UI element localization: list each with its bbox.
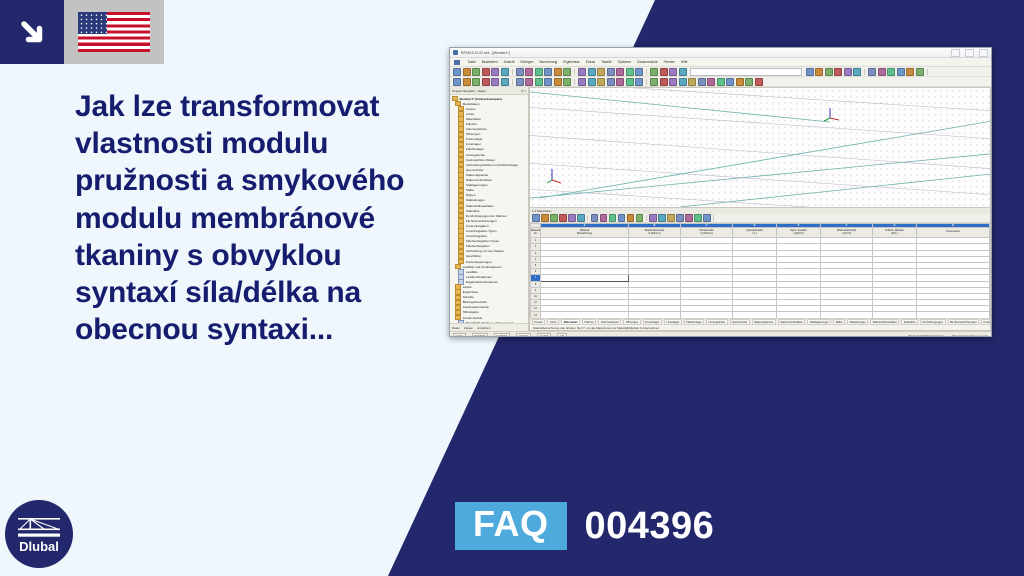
navigator-item-label: Linien bbox=[466, 112, 474, 116]
toolbar-button[interactable] bbox=[463, 78, 471, 86]
navigator-item-label: Knoten bbox=[466, 107, 476, 111]
menu-item[interactable]: Berechnung bbox=[539, 60, 557, 64]
toolbar-button[interactable] bbox=[532, 214, 540, 222]
status-chip[interactable]: FANG bbox=[453, 333, 466, 338]
toolbar-button[interactable] bbox=[626, 78, 634, 86]
toolbar-button[interactable] bbox=[887, 68, 895, 76]
navigator-item-label: Zusatzmodule bbox=[463, 316, 482, 320]
navigator-header: Projekt-Navigator - Daten ⚲ × bbox=[450, 87, 528, 95]
navigator-item-label: Querschnitte bbox=[466, 168, 484, 172]
toolbar-button[interactable] bbox=[591, 214, 599, 222]
status-chip[interactable]: RASTER bbox=[472, 333, 488, 338]
navigator-item-label: Flächenfreigaben-Typen bbox=[466, 239, 499, 243]
navigator-item-label: Flächenlager bbox=[466, 147, 484, 151]
project-navigator: Projekt-Navigator - Daten ⚲ × Member1* (… bbox=[450, 87, 529, 331]
table-hint: Materialbezeichnung oder drücken Sie F7,… bbox=[530, 325, 990, 330]
dlubal-frame-icon bbox=[17, 516, 61, 538]
toolbar-button[interactable] bbox=[544, 78, 552, 86]
toolbar-button[interactable] bbox=[627, 214, 635, 222]
navigator-item-label: Veränderliche Dicken bbox=[466, 158, 495, 162]
navigator-item-label: Ergebnisse bbox=[463, 290, 478, 294]
window-title: RFEM 5.22.02 x64 - [Member1*] bbox=[461, 51, 510, 55]
toolbar-button[interactable] bbox=[679, 68, 687, 76]
toolbar-button[interactable] bbox=[607, 68, 615, 76]
toolbar-button[interactable] bbox=[463, 68, 471, 76]
toolbar-button[interactable] bbox=[736, 78, 744, 86]
toolbar-button[interactable] bbox=[717, 78, 725, 86]
toolbar-separator bbox=[574, 79, 575, 85]
toolbar-button[interactable] bbox=[491, 78, 499, 86]
faq-number: 004396 bbox=[585, 507, 715, 545]
navigator-tab-zeigen[interactable]: Zeigen bbox=[464, 326, 473, 330]
navigator-item-label: Ergebniskombinationen bbox=[466, 280, 498, 284]
toolbar-button[interactable] bbox=[878, 68, 886, 76]
toolbar-button[interactable] bbox=[679, 78, 687, 86]
toolbar-button[interactable] bbox=[472, 78, 480, 86]
toolbar-separator bbox=[646, 69, 647, 75]
navigator-tab-daten[interactable]: Daten bbox=[452, 326, 460, 330]
toolbar-button[interactable] bbox=[688, 78, 696, 86]
toolbar-button[interactable] bbox=[669, 68, 677, 76]
navigator-item-label: Stäbe bbox=[466, 188, 474, 192]
toolbar-combobox[interactable] bbox=[690, 68, 802, 76]
status-bar: FANGRASTERKARTESOFANGOLINIEGIF3D-Modell … bbox=[450, 331, 991, 337]
navigator-item-label: Stabendgelenke bbox=[466, 173, 488, 177]
menu-item[interactable]: Bearbeiten bbox=[482, 60, 498, 64]
toolbar-separator bbox=[574, 69, 575, 75]
toolbar-button[interactable] bbox=[698, 78, 706, 86]
toolbar-button[interactable] bbox=[516, 68, 524, 76]
maximize-button[interactable] bbox=[965, 49, 974, 57]
navigator-pin-icon[interactable]: ⚲ × bbox=[521, 89, 526, 93]
toolbar-button[interactable] bbox=[694, 214, 702, 222]
toolbar-button[interactable] bbox=[568, 214, 576, 222]
toolbar-separator bbox=[646, 215, 647, 221]
toolbar-button[interactable] bbox=[650, 78, 658, 86]
menu-item[interactable]: Ansicht bbox=[504, 60, 515, 64]
toolbar-button[interactable] bbox=[453, 68, 461, 76]
table-toolbar[interactable] bbox=[530, 214, 990, 223]
language-bar bbox=[0, 0, 164, 64]
toolbar-button[interactable] bbox=[685, 214, 693, 222]
navigator-item-label: Linienlager bbox=[466, 142, 481, 146]
menu-item[interactable]: Hilfe bbox=[681, 60, 688, 64]
navigator-item-label: Member1* (Global Examples) bbox=[460, 97, 503, 101]
toolbar-button[interactable] bbox=[600, 214, 608, 222]
toolbar-button[interactable] bbox=[597, 68, 605, 76]
app-icon bbox=[453, 50, 458, 55]
toolbar-button[interactable] bbox=[825, 68, 833, 76]
column-header[interactable]: Wärmedehnzahlα [1/°C] bbox=[821, 228, 873, 238]
toolbar-button[interactable] bbox=[616, 78, 624, 86]
faq-tag: FAQ bbox=[455, 502, 567, 550]
navigator-item-label: Flächen bbox=[466, 122, 477, 126]
toolbar-button[interactable] bbox=[650, 68, 658, 76]
menu-item[interactable]: Einfügen bbox=[520, 60, 533, 64]
toolbar-button[interactable] bbox=[703, 214, 711, 222]
toolbar-button[interactable] bbox=[745, 78, 753, 86]
toolbar-button[interactable] bbox=[588, 68, 596, 76]
column-header[interactable]: MaterialBezeichnung bbox=[541, 228, 629, 238]
navigator-item-label: Öffnungen bbox=[466, 132, 480, 136]
menu-item[interactable]: Ergebnisse bbox=[563, 60, 580, 64]
toolbar-separator bbox=[927, 69, 928, 75]
navigator-item-label: Stablagerungen bbox=[466, 183, 488, 187]
model-wireframe bbox=[530, 88, 990, 207]
status-text: ISO | Drahtmodell | Isometrie bbox=[952, 334, 988, 338]
toolbar-button[interactable] bbox=[544, 68, 552, 76]
column-header[interactable]: Teilsich.-BeiwertγM [-] bbox=[873, 228, 917, 238]
toolbar-button[interactable] bbox=[815, 68, 823, 76]
rfem-application-window: RFEM 5.22.02 x64 - [Member1*] Datei Bear… bbox=[449, 47, 992, 337]
status-chip[interactable]: OFANG bbox=[516, 333, 531, 338]
navigator-item-label: Ausdruckprotokolle bbox=[463, 305, 489, 309]
toolbar-button[interactable] bbox=[853, 68, 861, 76]
toolbar-button[interactable] bbox=[667, 214, 675, 222]
window-titlebar: RFEM 5.22.02 x64 - [Member1*] bbox=[450, 48, 991, 58]
status-chip[interactable]: GIF bbox=[557, 333, 567, 338]
toolbar-button[interactable] bbox=[844, 68, 852, 76]
row-header-cell: MaterialNr. bbox=[531, 228, 541, 238]
toolbar-button[interactable] bbox=[563, 78, 571, 86]
navigator-item-label: Stabnichtlinearitäten bbox=[466, 204, 494, 208]
materials-table[interactable]: ABCDEFGHMaterialNr.MaterialBezeichnungEl… bbox=[530, 223, 990, 318]
navigator-item-label: Knotenlager bbox=[466, 137, 483, 141]
toolbar-separator bbox=[646, 79, 647, 85]
us-flag-icon bbox=[64, 0, 164, 64]
toolbar-button[interactable] bbox=[635, 68, 643, 76]
navigator-item-label: Lastkombinationen bbox=[466, 275, 492, 279]
toolbar-button[interactable] bbox=[525, 68, 533, 76]
navigator-item-label: Verbindung mit zwei Stäben bbox=[466, 249, 504, 253]
menu-item[interactable]: Tabelle bbox=[601, 60, 611, 64]
toolbar-button[interactable] bbox=[707, 78, 715, 86]
minimize-button[interactable] bbox=[951, 49, 960, 57]
navigator-item-label: Flächenfreigaben bbox=[466, 244, 490, 248]
navigator-item-label: Lastfälle bbox=[466, 270, 478, 274]
toolbar-button[interactable] bbox=[525, 78, 533, 86]
toolbar-button[interactable] bbox=[806, 68, 814, 76]
main-toolbar[interactable] bbox=[450, 67, 991, 77]
menu-item[interactable]: Fenster bbox=[664, 60, 675, 64]
toolbar-separator bbox=[713, 215, 714, 221]
toolbar-button[interactable] bbox=[660, 68, 668, 76]
toolbar-button[interactable] bbox=[897, 68, 905, 76]
menu-item[interactable]: Optionen bbox=[618, 60, 631, 64]
toolbar-button[interactable] bbox=[755, 78, 763, 86]
arrow-down-right-icon bbox=[0, 0, 64, 64]
toolbar-button[interactable] bbox=[660, 78, 668, 86]
toolbar-button[interactable] bbox=[482, 78, 490, 86]
toolbar-separator bbox=[512, 69, 513, 75]
toolbar-button[interactable] bbox=[588, 78, 596, 86]
navigator-item-label: Durchdringungen der Flächen bbox=[466, 214, 507, 218]
menu-item[interactable]: Extras bbox=[586, 60, 595, 64]
navigator-item-label: Linienfreigaben-Typen bbox=[466, 229, 497, 233]
toolbar-button[interactable] bbox=[578, 68, 586, 76]
navigator-tree[interactable]: Member1* (Global Examples)ModelldatenKno… bbox=[450, 95, 528, 323]
toolbar-button[interactable] bbox=[491, 68, 499, 76]
toolbar-button[interactable] bbox=[501, 78, 509, 86]
navigator-item-label: Knotenfreigaben bbox=[466, 224, 489, 228]
toolbar-button[interactable] bbox=[577, 214, 585, 222]
navigator-item-label: FE-Netzverdichtungen bbox=[466, 219, 497, 223]
toolbar-button[interactable] bbox=[541, 214, 549, 222]
faq-strip: FAQ 004396 bbox=[455, 502, 714, 550]
toolbar-button[interactable] bbox=[726, 78, 734, 86]
document-icon bbox=[454, 60, 460, 65]
window-controls[interactable] bbox=[951, 49, 988, 57]
toolbar-button[interactable] bbox=[635, 78, 643, 86]
navigator-item-label: Knotenkopplungen bbox=[466, 260, 492, 264]
toolbar-button[interactable] bbox=[658, 214, 666, 222]
navigator-item-label: Schnitte bbox=[463, 295, 474, 299]
toolbar-button[interactable] bbox=[559, 214, 567, 222]
table-header-row: MaterialNr.MaterialBezeichnungElastizitä… bbox=[531, 228, 990, 238]
navigator-tab-ansichten[interactable]: Ansichten bbox=[477, 326, 490, 330]
navigator-item-label: Volumenkörper bbox=[466, 127, 487, 131]
right-column: 1.3 Materialien ABCDEFGHMaterialNr.Mater… bbox=[529, 87, 991, 331]
navigator-item-label: Stabteilungen bbox=[466, 198, 485, 202]
status-right: 3D-Modell RFEM 5.22 DemoISO | Drahtmodel… bbox=[908, 334, 988, 338]
toolbar-button[interactable] bbox=[501, 68, 509, 76]
column-header[interactable]: ElastizitätsmodulE [N/mm²] bbox=[629, 228, 681, 238]
navigator-item-label: Verbindung Flächen und Flächenlager bbox=[466, 163, 518, 167]
toolbar-button[interactable] bbox=[616, 68, 624, 76]
table-panel: 1.3 Materialien ABCDEFGHMaterialNr.Mater… bbox=[529, 208, 991, 331]
secondary-toolbar[interactable] bbox=[450, 77, 991, 87]
navigator-item-label: Stabexzentrizitäten bbox=[466, 178, 492, 182]
toolbar-button[interactable] bbox=[868, 68, 876, 76]
dlubal-logo-text: Dlubal bbox=[19, 540, 59, 553]
toolbar-button[interactable] bbox=[834, 68, 842, 76]
toolbar-button[interactable] bbox=[453, 78, 461, 86]
navigator-item-label: Linienfreigaben bbox=[466, 234, 487, 238]
dlubal-logo: Dlubal bbox=[5, 500, 73, 568]
status-chip[interactable]: OLINIE bbox=[537, 333, 551, 338]
toolbar-button[interactable] bbox=[554, 68, 562, 76]
toolbar-button[interactable] bbox=[563, 68, 571, 76]
column-header[interactable]: SchubmodulG [N/mm²] bbox=[681, 228, 733, 238]
toolbar-button[interactable] bbox=[550, 214, 558, 222]
navigator-item-label: Hilfsobjekte bbox=[463, 310, 479, 314]
sheet-tabs[interactable]: KnotenLinienMaterialienFlächenVolumenkör… bbox=[530, 318, 990, 325]
column-header[interactable]: Querdehnzahlν [-] bbox=[733, 228, 777, 238]
toolbar-button[interactable] bbox=[535, 68, 543, 76]
toolbar-button[interactable] bbox=[676, 214, 684, 222]
toolbar-button[interactable] bbox=[607, 78, 615, 86]
toolbar-button[interactable] bbox=[916, 68, 924, 76]
column-header[interactable]: Spez. Gewichtγ [kN/m³] bbox=[777, 228, 821, 238]
toolbar-button[interactable] bbox=[535, 78, 543, 86]
navigator-item-label: Stabsätze bbox=[466, 209, 480, 213]
page-title: Jak lze transformovat vlastnosti modulu … bbox=[75, 88, 445, 348]
close-button[interactable] bbox=[979, 49, 988, 57]
toolbar-button[interactable] bbox=[472, 68, 480, 76]
navigator-item-label: Materialien bbox=[466, 117, 481, 121]
navigator-item-label: Liniengelenke bbox=[466, 153, 485, 157]
menubar[interactable]: Datei Bearbeiten Ansicht Einfügen Berech… bbox=[450, 58, 991, 67]
toolbar-button[interactable] bbox=[669, 78, 677, 86]
toolbar-button[interactable] bbox=[578, 78, 586, 86]
status-chip[interactable]: KARTES bbox=[494, 333, 510, 338]
navigator-item-label: Lastfälle und Kombinationen bbox=[463, 265, 502, 269]
navigator-footer-tabs[interactable]: Daten Zeigen Ansichten bbox=[450, 323, 528, 331]
column-header[interactable]: Kommentar bbox=[917, 228, 990, 238]
toolbar-button[interactable] bbox=[482, 68, 490, 76]
toolbar-button[interactable] bbox=[609, 214, 617, 222]
navigator-item-label: Bildungsübersicht bbox=[463, 300, 487, 304]
navigator-item-label: Lasten bbox=[463, 285, 472, 289]
toolbar-separator bbox=[512, 79, 513, 85]
menu-item[interactable]: Zusatzmodule bbox=[637, 60, 658, 64]
toolbar-button[interactable] bbox=[649, 214, 657, 222]
toolbar-button[interactable] bbox=[626, 68, 634, 76]
toolbar-separator bbox=[587, 215, 588, 221]
navigator-title: Projekt-Navigator - Daten bbox=[452, 89, 486, 93]
toolbar-button[interactable] bbox=[554, 78, 562, 86]
navigator-item-label: Modelldaten bbox=[463, 102, 480, 106]
navigator-item-label: Rippen bbox=[466, 193, 476, 197]
workarea: Projekt-Navigator - Daten ⚲ × Member1* (… bbox=[450, 87, 991, 331]
menu-item[interactable]: Datei bbox=[468, 60, 476, 64]
status-text: 3D-Modell RFEM 5.22 Demo bbox=[908, 334, 944, 338]
model-viewport[interactable] bbox=[529, 87, 991, 208]
toolbar-button[interactable] bbox=[636, 214, 644, 222]
toolbar-button[interactable] bbox=[597, 78, 605, 86]
toolbar-button[interactable] bbox=[906, 68, 914, 76]
navigator-item-label: Geschlitzer bbox=[466, 254, 481, 258]
toolbar-button[interactable] bbox=[618, 214, 626, 222]
toolbar-button[interactable] bbox=[516, 78, 524, 86]
toolbar-separator bbox=[864, 69, 865, 75]
